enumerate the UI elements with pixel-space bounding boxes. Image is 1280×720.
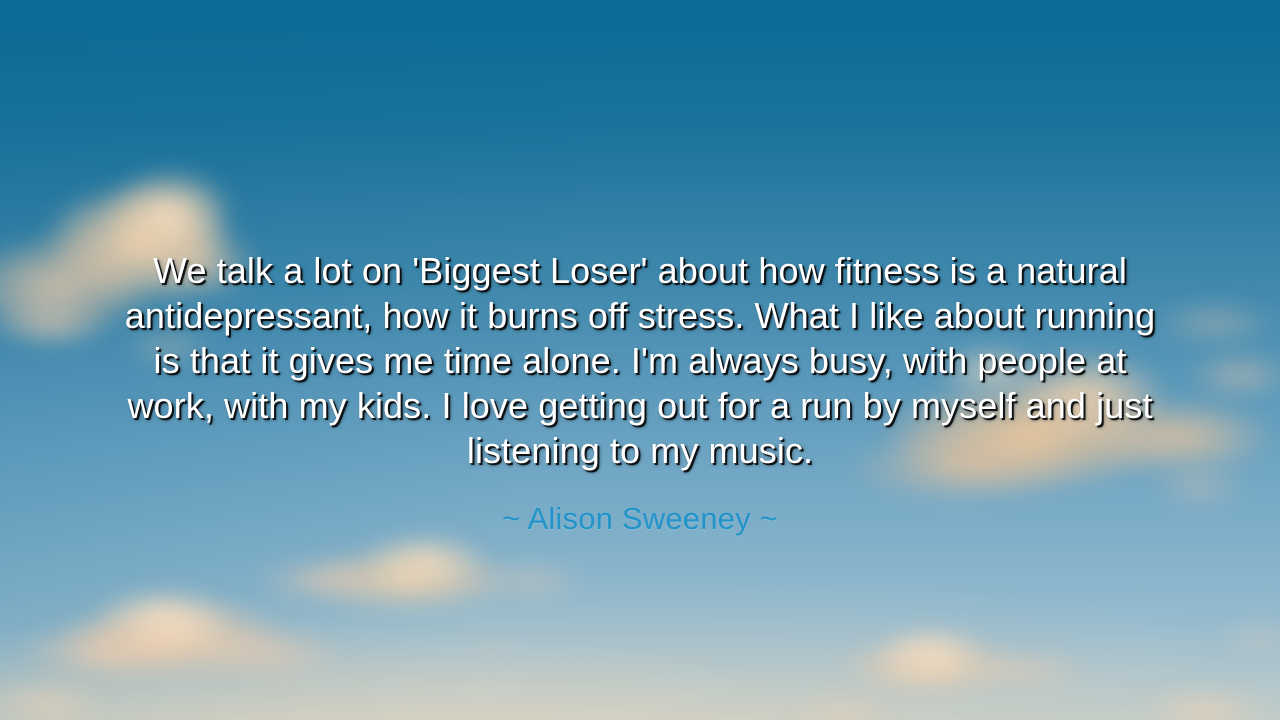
- quote-block: We talk a lot on 'Biggest Loser' about h…: [0, 248, 1280, 538]
- quote-attribution: ~ Alison Sweeney ~: [110, 473, 1170, 538]
- quote-text: We talk a lot on 'Biggest Loser' about h…: [110, 248, 1170, 473]
- quote-card: We talk a lot on 'Biggest Loser' about h…: [0, 0, 1280, 720]
